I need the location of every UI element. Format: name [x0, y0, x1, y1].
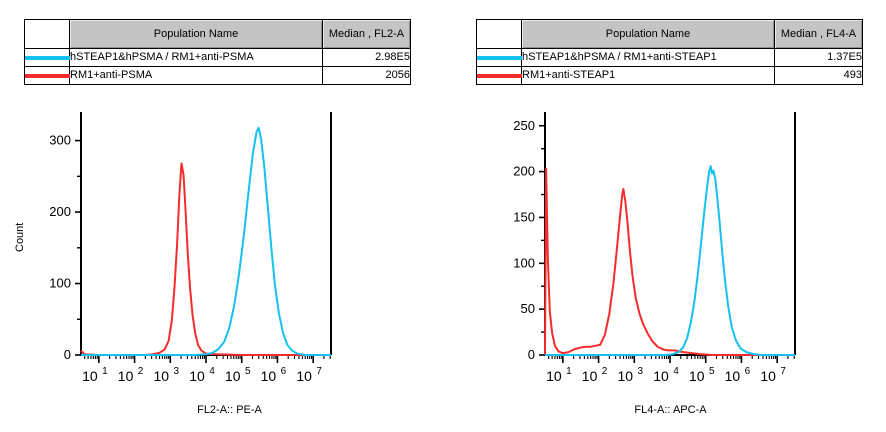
svg-text:10: 10 — [653, 368, 669, 384]
legend-header-median: Median , FL4-A — [775, 20, 863, 49]
svg-text:2: 2 — [602, 366, 608, 377]
x-axis-title: FL4-A:: APC-A — [449, 404, 886, 416]
svg-text:4: 4 — [673, 366, 679, 377]
svg-text:6: 6 — [281, 366, 287, 377]
svg-text:10: 10 — [689, 368, 705, 384]
legend-swatch-cyan — [25, 49, 70, 67]
svg-text:10: 10 — [189, 368, 205, 384]
histogram-svg: 050100150200250101102103104105106107 — [443, 104, 886, 404]
legend-header-population-name: Population Name — [70, 20, 323, 49]
population-name-cell: RM1+anti-PSMA — [70, 67, 323, 85]
svg-text:3: 3 — [638, 366, 644, 377]
svg-text:6: 6 — [745, 366, 751, 377]
y-axis-label: Count — [14, 223, 26, 252]
svg-text:5: 5 — [245, 366, 251, 377]
legend-table-fl4a: Population Name Median , FL4-A hSTEAP1&h… — [476, 19, 863, 85]
legend-color-line — [25, 74, 70, 78]
svg-text:10: 10 — [582, 368, 598, 384]
legend-color-line — [477, 74, 522, 78]
svg-text:10: 10 — [546, 368, 562, 384]
legend-header-swatch — [477, 20, 522, 49]
legend-color-line — [477, 56, 522, 60]
panel-fl2a: Population Name Median , FL2-A hSTEAP1&h… — [0, 0, 443, 432]
svg-text:4: 4 — [209, 366, 215, 377]
svg-text:5: 5 — [709, 366, 715, 377]
population-name-cell: hSTEAP1&hPSMA / RM1+anti-PSMA — [70, 49, 323, 67]
svg-text:250: 250 — [513, 118, 535, 133]
legend-header-row: Population Name Median , FL2-A — [25, 20, 411, 49]
legend-header-swatch — [25, 20, 70, 49]
svg-text:7: 7 — [316, 366, 322, 377]
population-name-cell: RM1+anti-STEAP1 — [522, 67, 775, 85]
svg-text:100: 100 — [49, 276, 71, 291]
svg-text:10: 10 — [118, 368, 134, 384]
svg-text:10: 10 — [296, 368, 312, 384]
panel-fl4a: Population Name Median , FL4-A hSTEAP1&h… — [443, 0, 886, 432]
population-name-cell: hSTEAP1&hPSMA / RM1+anti-STEAP1 — [522, 49, 775, 67]
x-axis-title: FL2-A:: PE-A — [8, 404, 451, 416]
legend-header-population-name: Population Name — [522, 20, 775, 49]
svg-text:0: 0 — [64, 347, 71, 362]
svg-text:10: 10 — [618, 368, 634, 384]
svg-text:2: 2 — [138, 366, 144, 377]
svg-text:10: 10 — [261, 368, 277, 384]
svg-text:0: 0 — [528, 347, 535, 362]
histogram-plot-fl2a: 0100200300101102103104105106107 — [0, 104, 443, 404]
svg-text:50: 50 — [521, 301, 535, 316]
legend-header-row: Population Name Median , FL4-A — [477, 20, 863, 49]
svg-text:1: 1 — [102, 366, 108, 377]
legend-swatch-cyan — [477, 49, 522, 67]
svg-text:100: 100 — [513, 255, 535, 270]
histogram-plot-fl4a: 050100150200250101102103104105106107 — [443, 104, 886, 404]
svg-text:200: 200 — [49, 204, 71, 219]
legend-color-line — [25, 56, 70, 60]
median-value-cell: 2056 — [323, 67, 411, 85]
table-row[interactable]: hSTEAP1&hPSMA / RM1+anti-STEAP1 1.37E5 — [477, 49, 863, 67]
median-value-cell: 1.37E5 — [775, 49, 863, 67]
table-row[interactable]: RM1+anti-PSMA 2056 — [25, 67, 411, 85]
legend-swatch-red — [477, 67, 522, 85]
svg-text:150: 150 — [513, 209, 535, 224]
svg-text:10: 10 — [154, 368, 170, 384]
svg-text:10: 10 — [725, 368, 741, 384]
median-value-cell: 2.98E5 — [323, 49, 411, 67]
median-value-cell: 493 — [775, 67, 863, 85]
histogram-svg: 0100200300101102103104105106107 — [0, 104, 443, 404]
svg-text:10: 10 — [225, 368, 241, 384]
svg-text:300: 300 — [49, 133, 71, 148]
legend-header-median: Median , FL2-A — [323, 20, 411, 49]
svg-text:10: 10 — [760, 368, 776, 384]
svg-text:3: 3 — [174, 366, 180, 377]
svg-text:7: 7 — [780, 366, 786, 377]
table-row[interactable]: RM1+anti-STEAP1 493 — [477, 67, 863, 85]
svg-text:10: 10 — [82, 368, 98, 384]
legend-swatch-red — [25, 67, 70, 85]
svg-text:200: 200 — [513, 164, 535, 179]
table-row[interactable]: hSTEAP1&hPSMA / RM1+anti-PSMA 2.98E5 — [25, 49, 411, 67]
svg-text:1: 1 — [566, 366, 572, 377]
legend-table-fl2a: Population Name Median , FL2-A hSTEAP1&h… — [24, 19, 411, 85]
